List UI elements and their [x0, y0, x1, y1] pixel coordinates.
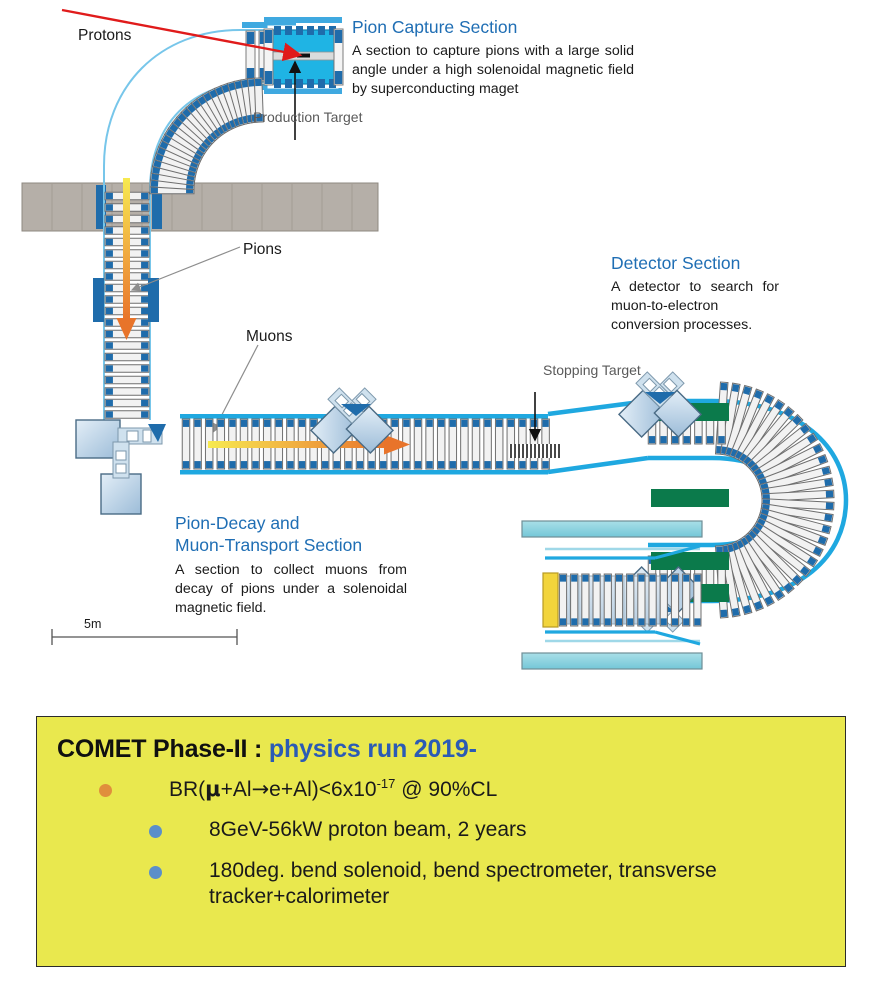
summary-box: COMET Phase-II : physics run 2019- BR(μ+…	[36, 716, 846, 967]
label-protons: Protons	[78, 27, 131, 45]
callout-pion-decay-title-line2: Muon-Transport Section	[175, 534, 407, 556]
callout-pion-decay-body: A section to collect muons from decay of…	[175, 561, 407, 618]
bullet-3-text: 180deg. bend solenoid, bend spectrometer…	[209, 859, 717, 908]
label-production-target: Production Target	[253, 108, 337, 126]
bend-solenoid-coils-top	[150, 78, 263, 194]
pion-capture-block	[264, 17, 343, 94]
bullet-1-mid2: e+Al)<6x10	[269, 778, 376, 801]
callout-detector: Detector Section A detector to search fo…	[611, 252, 779, 335]
stopping-target	[509, 444, 561, 458]
bullet-dot-blue-2	[149, 866, 162, 879]
bullet-1-arrow: →	[252, 777, 270, 801]
callout-pion-decay-title-line1: Pion-Decay and	[175, 512, 407, 534]
summary-title: COMET Phase-II : physics run 2019-	[37, 717, 845, 764]
bullet-1-prefix: BR(	[169, 778, 205, 801]
scale-bar	[52, 629, 237, 645]
callout-pion-capture-title: Pion Capture Section	[352, 16, 634, 38]
bullet-1-suffix: @ 90%CL	[395, 778, 497, 801]
bullet-1-mu: μ	[205, 777, 220, 801]
summary-bullet-branching-ratio: BR(μ+Al→e+Al)<6x10-17 @ 90%CL	[37, 776, 845, 803]
bullet-dot-blue-1	[149, 825, 162, 838]
bullet-2-text: 8GeV-56kW proton beam, 2 years	[209, 818, 527, 841]
callout-pion-capture-body: A section to capture pions with a large …	[352, 42, 634, 99]
callout-pion-decay: Pion-Decay and Muon-Transport Section A …	[175, 512, 407, 617]
comet-phase-ii-diagram: Pion Capture Section A section to captur…	[0, 0, 882, 986]
label-muons: Muons	[246, 328, 293, 346]
callout-detector-title: Detector Section	[611, 252, 779, 274]
label-scale-5m: 5m	[84, 617, 101, 631]
summary-bullet-beam: 8GeV-56kW proton beam, 2 years	[37, 817, 845, 843]
summary-bullet-list: BR(μ+Al→e+Al)<6x10-17 @ 90%CL 8GeV-56kW …	[37, 776, 845, 911]
summary-title-main: COMET Phase-II :	[57, 735, 269, 763]
summary-bullet-apparatus: 180deg. bend solenoid, bend spectrometer…	[37, 858, 845, 911]
bullet-1-mid: +Al	[221, 778, 252, 801]
accelerator-layout-diagram	[0, 0, 882, 700]
label-pions: Pions	[243, 241, 282, 259]
label-stopping-target: Stopping Target	[543, 361, 627, 379]
bullet-dot-orange	[99, 784, 112, 797]
callout-detector-body: A detector to search for muon-to-electro…	[611, 278, 779, 335]
shielding-wall	[22, 183, 378, 231]
bullet-1-exponent: -17	[377, 776, 396, 791]
summary-title-accent: physics run 2019-	[269, 735, 477, 763]
callout-pion-capture: Pion Capture Section A section to captur…	[352, 16, 634, 99]
left-detector-arms	[76, 420, 166, 514]
